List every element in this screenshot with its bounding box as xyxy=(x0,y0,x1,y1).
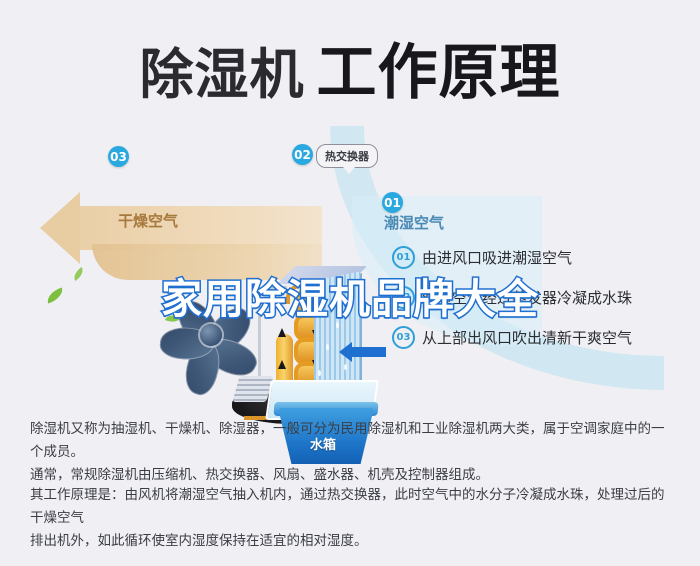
body-paragraph-2: 其工作原理是：由风机将潮湿空气抽入机内，通过热交换器，此时空气中的水分子冷凝成水… xyxy=(30,484,676,553)
watermark-overlay-text: 家用除湿机品牌大全 xyxy=(0,265,700,325)
water-droplet-icon xyxy=(326,344,329,350)
diagram-badge-03: 03 xyxy=(108,146,129,167)
page-title-part1: 除湿机 xyxy=(140,43,305,106)
body-paragraph-1: 除湿机又称为抽湿机、干燥机、除湿器，一般可分为民用除湿机和工业除湿机两大类，属于… xyxy=(30,418,676,487)
flow-arrow-up-icon xyxy=(278,360,286,369)
step-number: 03 xyxy=(392,326,415,349)
moist-air-label: 潮湿空气 xyxy=(384,212,444,233)
infographic-page: 除湿机工作原理 xyxy=(0,0,700,566)
page-title: 除湿机工作原理 xyxy=(0,24,700,111)
dry-air-arrow-head xyxy=(40,192,80,264)
water-droplet-icon xyxy=(318,370,321,376)
heat-exchanger-callout: 热交换器 xyxy=(316,144,378,168)
water-droplet-icon xyxy=(344,364,347,370)
step-text: 从上部出风口吹出清新干爽空气 xyxy=(422,327,632,348)
diagram-badge-02: 02 xyxy=(292,144,313,165)
intake-air-arrow-icon xyxy=(352,347,386,357)
body-paragraph-2-line-2: 排出机外，如此循环使室内湿度保持在适宜的相对湿度。 xyxy=(30,530,676,553)
body-paragraph-2-line-1: 其工作原理是：由风机将潮湿空气抽入机内，通过热交换器，此时空气中的水分子冷凝成水… xyxy=(30,484,676,530)
fan-hub xyxy=(200,324,222,346)
diagram-badge-01: 01 xyxy=(382,192,403,213)
flow-arrow-up-icon xyxy=(278,328,286,337)
dry-air-label: 干燥空气 xyxy=(118,210,178,231)
page-title-part2: 工作原理 xyxy=(317,38,561,108)
step-item: 03 从上部出风口吹出清新干爽空气 xyxy=(392,326,692,349)
body-paragraph-1-line-1: 除湿机又称为抽湿机、干燥机、除湿器，一般可分为民用除湿机和工业除湿机两大类，属于… xyxy=(30,418,676,464)
